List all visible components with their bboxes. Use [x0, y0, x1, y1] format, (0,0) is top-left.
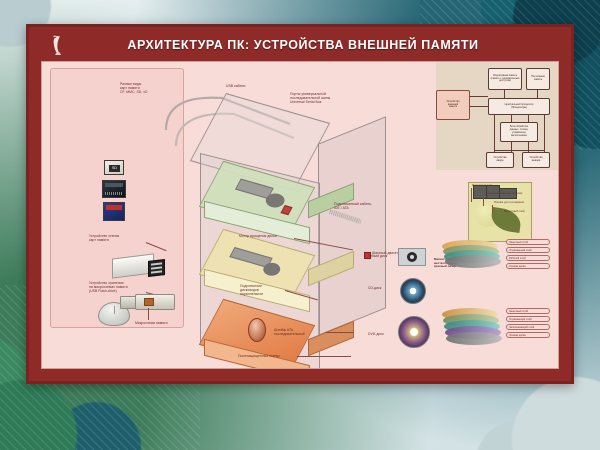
- stepper-motor-chip: [281, 205, 293, 215]
- floppy-row-label: Гибкий диск: [368, 254, 396, 258]
- arrow-cpu-input: [494, 115, 495, 152]
- leader-line: [471, 188, 472, 202]
- arrow-io-bus: [494, 150, 544, 151]
- arrow-memory-ram: [470, 96, 488, 97]
- block-ram[interactable]: Оперативная память (память с произвольны…: [488, 68, 522, 90]
- pc-architecture-block-diagram: Устройство внешней памяти Оперативная па…: [436, 66, 552, 170]
- page-title: АРХИТЕКТУРА ПК: УСТРОЙСТВА ВНЕШНЕЙ ПАМЯТ…: [73, 38, 567, 52]
- dvd-disc-icon: [398, 316, 430, 348]
- cd-layer-callout-4: Основа диска: [506, 263, 550, 269]
- block-external-memory[interactable]: Устройство внешней памяти: [436, 90, 470, 120]
- layer: [445, 255, 501, 268]
- dvd-layer-stack: [442, 308, 502, 342]
- memory-stick-band: [106, 205, 122, 210]
- head-card-label-1: Магнитный диск: [472, 184, 522, 187]
- dvd-layer-callout-3: Записывающий слой: [506, 324, 550, 330]
- block-alu[interactable]: Блок обработки данных, логика, управлени…: [500, 122, 538, 142]
- cd-layer-callout-1: Защитный слой: [506, 239, 550, 245]
- dvd-row-label: DVD-диск: [368, 332, 396, 336]
- poster-canvas: Разные виды карт памяти CF, MMC, SD, xD …: [41, 61, 559, 369]
- floppy-disk-icon: [398, 248, 426, 266]
- layer: [446, 332, 502, 345]
- memory-stick-icon: [103, 202, 125, 221]
- leader-line: [148, 308, 149, 320]
- leader-line: [492, 205, 493, 213]
- block-input-devices[interactable]: Устройства ввода: [486, 152, 514, 168]
- head-card-label-3: Пленка для считывания: [494, 201, 552, 204]
- dvd-layer-callout-4: Основа диска: [506, 332, 550, 338]
- head-card-label-4: Магнитный слой: [504, 210, 556, 213]
- poster-title-bar: АРХИТЕКТУРА ПК: УСТРОЙСТВА ВНЕШНЕЙ ПАМЯТ…: [33, 31, 567, 59]
- leader-line: [483, 196, 484, 206]
- floppy-layer-stack: [442, 240, 502, 268]
- leader-line: [297, 356, 351, 357]
- hdd-spindle: [248, 318, 266, 342]
- sd-card-text: SD: [109, 165, 120, 172]
- bird-emblem-icon: [43, 33, 73, 57]
- poster-frame: АРХИТЕКТУРА ПК: УСТРОЙСТВА ВНЕШНЕЙ ПАМЯТ…: [26, 24, 574, 384]
- poster-inner: АРХИТЕКТУРА ПК: УСТРОЙСТВА ВНЕШНЕЙ ПАМЯТ…: [33, 31, 567, 377]
- card-reader-illustration: [112, 252, 164, 278]
- dvd-layer-callout-1: Защитный слой: [506, 308, 550, 314]
- ide-cable-label: Подключаемый кабель, IDE / ATA: [334, 202, 400, 210]
- cf-card-icon: [102, 180, 126, 198]
- arrow-cpu-output: [544, 115, 545, 152]
- cd-layer-callout-2: Отражающий слой: [506, 247, 550, 253]
- cd-disc-icon: [400, 278, 426, 304]
- flash-drive-body: [135, 294, 175, 310]
- case-side-face: [318, 116, 386, 335]
- cf-card-pins: [105, 192, 123, 195]
- dustproof-case-label: Пылезащищенный корпус: [238, 354, 300, 358]
- arrow-rom-cpu: [537, 90, 538, 98]
- cf-card-strip: [105, 183, 123, 187]
- cd-layer-callout-3: Рабочий слой: [506, 255, 550, 261]
- block-cpu[interactable]: Центральный процессор (Процессоры): [488, 98, 550, 115]
- card-reader-slots: [148, 259, 165, 277]
- head-card-label-2: Защитное покрытие (пленка): [486, 192, 548, 195]
- ata-ribbon-label: Шлейф ATA последовательный: [274, 328, 330, 336]
- arrow-memory-cpu: [470, 106, 488, 107]
- cd-row-label: CD-диск: [368, 286, 396, 290]
- arrow-ram-cpu: [504, 90, 505, 98]
- parallel-connection-label: Подключение дисководов параллельное: [240, 284, 290, 297]
- dvd-layer-callout-2: Отражающий слой: [506, 316, 550, 322]
- block-output-devices[interactable]: Устройства вывода: [522, 152, 550, 168]
- leader-line: [326, 332, 354, 333]
- flash-memory-chip: [144, 298, 154, 306]
- block-rom[interactable]: Постоянная память: [526, 68, 550, 90]
- spindle-motor-label: Мотор вращения диска: [239, 234, 301, 238]
- optical-media-diagram: Гибкий диск Защитный слой Отражающий сло…: [394, 236, 554, 364]
- arrow-cpu-alu: [511, 115, 512, 122]
- sd-card-icon: SD: [104, 160, 124, 175]
- arrow-cpu-alu-2: [528, 115, 529, 122]
